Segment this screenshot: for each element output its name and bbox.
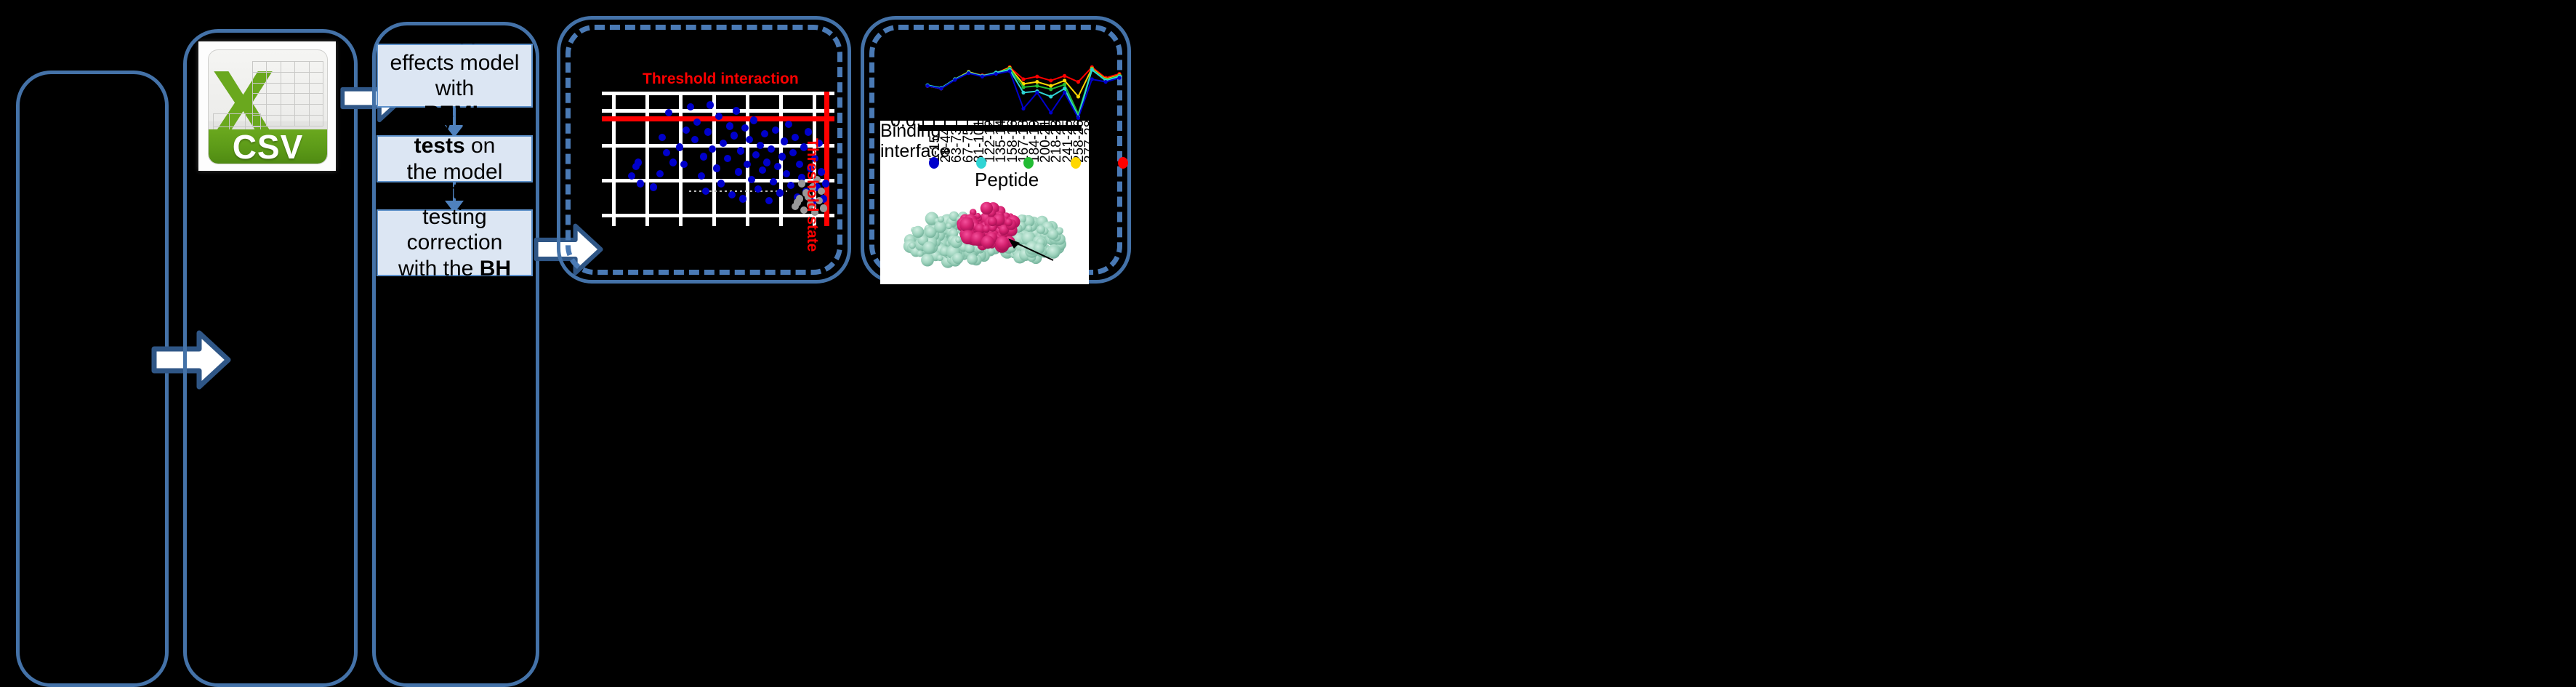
- protein-surface-blob: [952, 253, 963, 264]
- peptide-marker: [1035, 91, 1039, 95]
- threshold-interaction-label: Threshold interaction: [643, 71, 799, 88]
- volcano-point-significant: [746, 136, 753, 143]
- protein-surface-blob: [921, 254, 934, 267]
- volcano-point-significant: [726, 122, 733, 129]
- peptide-marker: [1049, 87, 1052, 91]
- protein-surface-blob: [946, 223, 951, 229]
- volcano-point-significant: [768, 145, 775, 153]
- volcano-point-significant: [669, 158, 677, 166]
- legend-dot-1: [976, 157, 986, 169]
- ligand-surface-blob: [983, 225, 990, 233]
- protein-surface-blob: [912, 226, 924, 238]
- step-reml-box: Fit a linear mixed-effects model withREM…: [377, 44, 533, 108]
- volcano-point-significant: [757, 142, 764, 149]
- volcano-point-significant: [750, 116, 757, 124]
- peptide-marker: [1021, 77, 1025, 81]
- volcano-point-significant: [776, 189, 784, 196]
- volcano-point-significant: [778, 153, 786, 160]
- volcano-point-significant: [774, 163, 781, 170]
- ligand-surface-blob: [981, 236, 994, 249]
- protein-surface-blob: [1048, 229, 1059, 240]
- peptide-marker: [1090, 68, 1094, 71]
- volcano-point-significant: [724, 155, 731, 162]
- peptide-marker: [1076, 116, 1080, 120]
- volcano-point-significant: [781, 137, 788, 145]
- protein-surface-blob: [925, 227, 937, 238]
- peptide-marker: [939, 87, 943, 90]
- binding-interface-annotation: Binding interface: [880, 121, 950, 161]
- volcano-point-significant: [792, 134, 799, 141]
- volcano-point-significant: [765, 197, 773, 204]
- csv-label: CSV: [209, 127, 327, 165]
- volcano-point-significant: [663, 149, 670, 156]
- volcano-point-significant: [704, 128, 712, 135]
- peptide-marker: [925, 84, 929, 88]
- volcano-point-significant: [733, 107, 740, 114]
- protein-surface-blob: [967, 254, 978, 265]
- peptide-marker: [1008, 69, 1012, 73]
- protein-surface-blob: [917, 250, 923, 257]
- volcano-point-significant: [805, 128, 812, 135]
- ligand-surface-blob: [981, 202, 993, 214]
- binding-interface-line1: Binding: [880, 121, 941, 141]
- volcano-plot: [602, 92, 834, 226]
- peptide-marker: [1090, 77, 1094, 81]
- peptide-label: 277-284: [1082, 121, 1089, 163]
- peptide-marker: [1035, 75, 1039, 79]
- peptide-marker: [1063, 87, 1066, 90]
- ligand-surface-blob: [988, 217, 997, 226]
- peptide-marker: [953, 78, 957, 81]
- peptide-marker: [1063, 74, 1066, 78]
- peptide-marker: [1117, 76, 1121, 80]
- peptide-marker: [1021, 91, 1025, 95]
- peptide-line-chart: [893, 48, 1122, 121]
- volcano-point-significant: [683, 126, 690, 134]
- volcano-point-significant: [700, 153, 707, 160]
- binding-interface-line2: interface: [880, 141, 950, 161]
- peptide-marker: [967, 71, 970, 75]
- legend-dot-2: [1023, 157, 1034, 169]
- volcano-point-significant: [730, 132, 738, 139]
- volcano-point-significant: [752, 151, 760, 158]
- volcano-point-significant: [770, 178, 777, 185]
- protein-surface-blob: [1026, 225, 1032, 232]
- step-bh-box: Multiple testingcorrectionwith the BH pr…: [377, 209, 533, 276]
- peptide-marker: [1063, 79, 1066, 82]
- volcano-point-nonsignificant: [820, 204, 827, 212]
- csv-x-glyph: X: [211, 57, 258, 113]
- volcano-point-significant: [656, 170, 664, 177]
- csv-band: CSV: [209, 129, 327, 164]
- input-panel: [16, 71, 169, 687]
- volcano-point-significant: [789, 149, 797, 156]
- step-wald-box: Apply Wald tests onthe model parameters: [377, 135, 533, 182]
- volcano-point-significant: [650, 183, 657, 190]
- ligand-surface-blob: [1005, 218, 1013, 226]
- protein-surface-blob: [922, 241, 935, 254]
- protein-surface-blob: [1037, 225, 1045, 234]
- legend-dot-4: [1118, 157, 1128, 169]
- protein-surface-blob: [938, 216, 944, 222]
- volcano-point-significant: [744, 161, 751, 168]
- peptide-marker: [1063, 91, 1066, 95]
- volcano-point-significant: [635, 158, 642, 166]
- volcano-point-significant: [787, 182, 794, 189]
- protein-surface-blob: [1047, 246, 1060, 259]
- peptide-marker: [1049, 95, 1052, 98]
- peptide-tick: [967, 121, 968, 126]
- peptide-marker: [1021, 85, 1025, 89]
- volcano-point-significant: [785, 121, 792, 128]
- peptide-marker: [1076, 80, 1080, 84]
- volcano-point-significant: [735, 168, 742, 175]
- volcano-point-significant: [728, 191, 736, 198]
- protein-structure-image: [880, 196, 1089, 284]
- peptide-marker: [1076, 95, 1080, 98]
- volcano-point-significant: [763, 158, 770, 166]
- protein-surface-blob: [937, 254, 943, 261]
- peptide-marker: [1035, 80, 1039, 84]
- peptide-marker: [1021, 107, 1025, 111]
- peptide-tick: [956, 121, 957, 126]
- volcano-point-significant: [713, 164, 720, 172]
- volcano-point-significant: [737, 147, 744, 154]
- csv-file-icon: X CSV: [198, 41, 336, 171]
- volcano-point-significant: [665, 109, 672, 116]
- protein-surface-blob: [909, 242, 916, 249]
- peptide-marker: [994, 72, 998, 76]
- structure-figure-card: 0.0 1-1528-4463-7367-7581-101122-129135-…: [880, 121, 1089, 284]
- peptide-marker: [1049, 111, 1052, 114]
- ligand-surface-blob: [995, 236, 1010, 251]
- peptide-marker: [1035, 84, 1039, 88]
- peptide-marker: [1049, 84, 1052, 88]
- legend-dot-3: [1071, 157, 1081, 169]
- volcano-point-significant: [702, 188, 709, 195]
- volcano-point-significant: [717, 180, 725, 187]
- step-bh-text: Multiple testingcorrectionwith the BH pr…: [384, 179, 526, 308]
- volcano-point-significant: [822, 180, 829, 187]
- ligand-surface-blob: [959, 217, 974, 232]
- peptide-axis-title: Peptide: [975, 169, 1039, 191]
- protein-surface-blob: [955, 237, 961, 243]
- peptide-marker: [1104, 80, 1108, 84]
- volcano-point-significant: [691, 136, 699, 143]
- volcano-point-significant: [693, 118, 701, 126]
- threshold-state-label: Threshold state: [803, 138, 821, 252]
- volcano-point-significant: [796, 161, 803, 168]
- volcano-point-significant: [637, 180, 644, 187]
- volcano-point-significant: [676, 143, 683, 150]
- peptide-marker: [981, 75, 984, 79]
- volcano-point-significant: [772, 126, 779, 134]
- volcano-point-significant: [783, 170, 790, 177]
- volcano-point-significant: [707, 101, 714, 108]
- peptide-marker: [1063, 83, 1066, 87]
- volcano-point-significant: [739, 195, 746, 202]
- volcano-point-significant: [659, 134, 666, 141]
- volcano-point-significant: [680, 161, 688, 168]
- csv-grid-main: [252, 61, 323, 126]
- volcano-point-nonsignificant: [794, 198, 801, 206]
- peptide-marker: [1049, 79, 1052, 82]
- legend-dot-0: [929, 157, 939, 169]
- volcano-point-significant: [761, 130, 768, 137]
- volcano-point-significant: [759, 166, 766, 174]
